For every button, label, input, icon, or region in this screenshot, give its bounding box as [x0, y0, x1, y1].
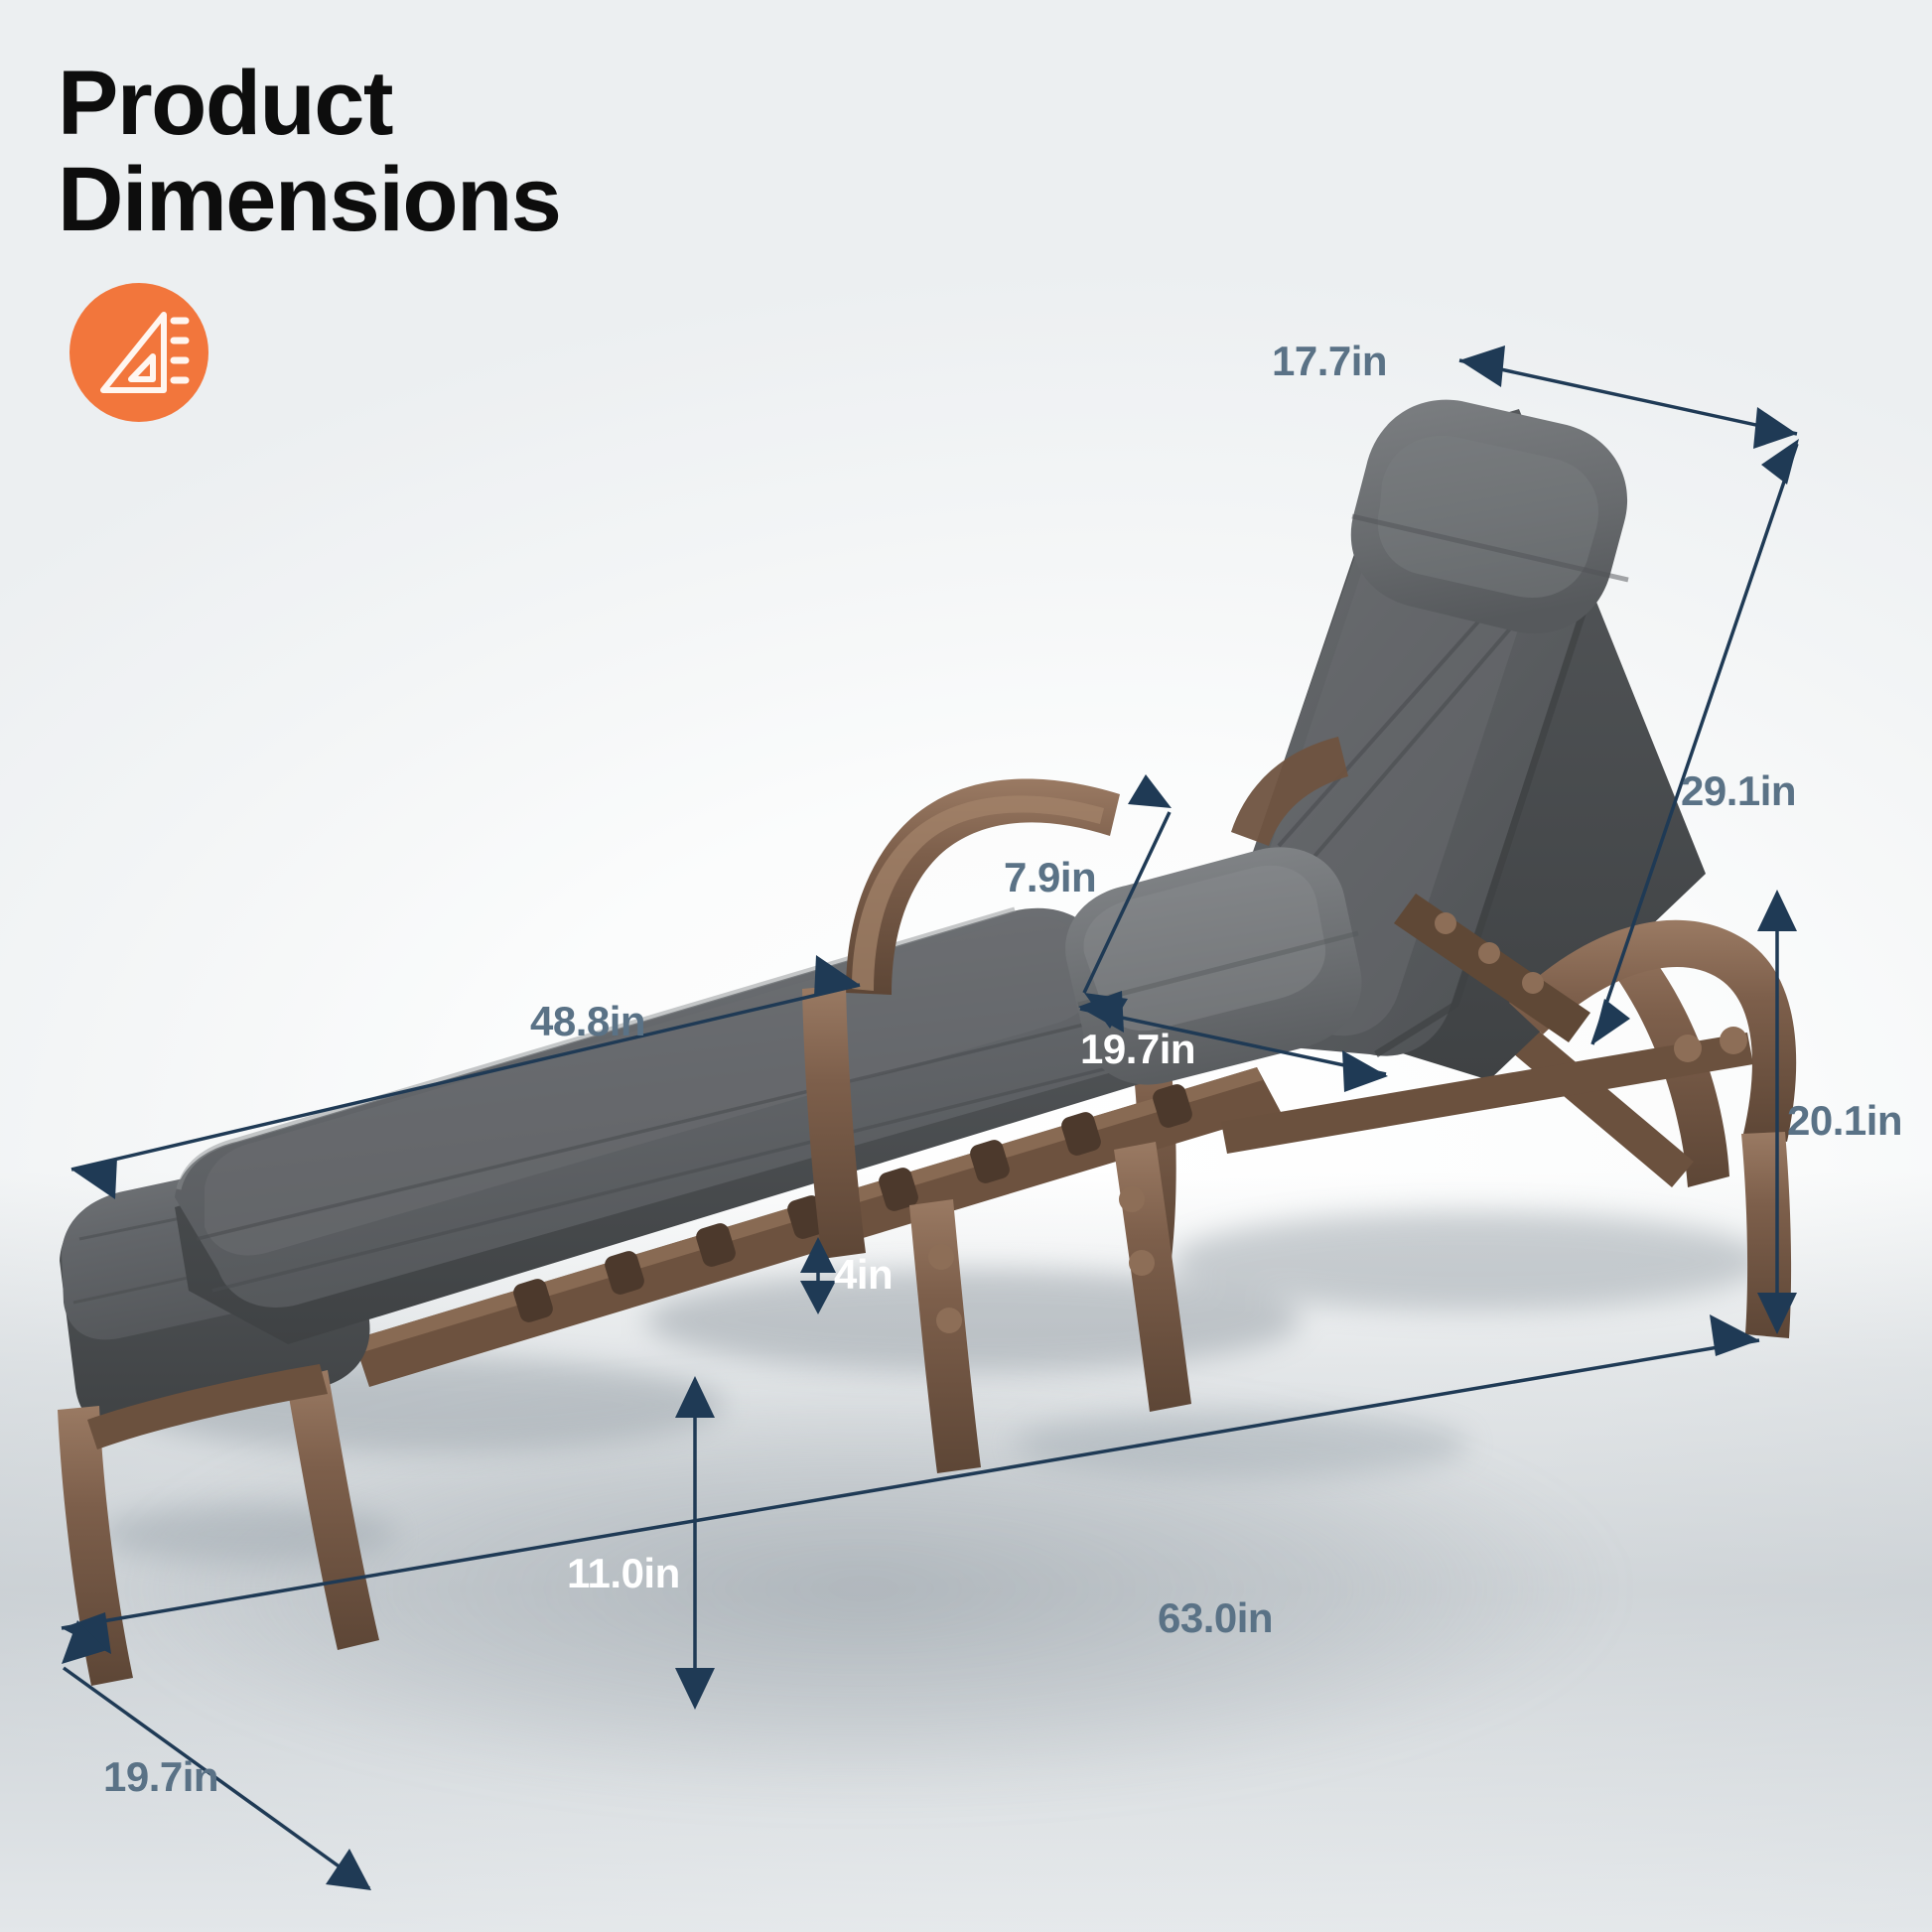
- triangle-ruler-icon: [69, 283, 208, 422]
- page-title: Product Dimensions: [58, 56, 951, 247]
- cushion-seat: [175, 908, 1191, 1344]
- dimension-label-seat-length: 48.8in: [530, 998, 645, 1045]
- frame-side-rail: [353, 1067, 1281, 1387]
- dimension-label-cushion-thickness: 4in: [834, 1251, 893, 1299]
- floor-shadow-pool: [119, 1380, 1608, 1797]
- dimension-label-overall-length: 63.0in: [1158, 1594, 1273, 1642]
- dimension-label-armrest-gap: 7.9in: [1004, 854, 1096, 901]
- dimension-lines: [62, 360, 1797, 1888]
- dimension-arrowheads: [62, 345, 1799, 1890]
- cushion-foot: [60, 1153, 370, 1430]
- product-dimensions-infographic: Product Dimensions: [0, 0, 1932, 1932]
- dimension-label-frame-height: 20.1in: [1787, 1097, 1902, 1145]
- page-title-line1: Product: [58, 53, 392, 154]
- frame-armrest-far: [1231, 737, 1348, 846]
- page-title-line2: Dimensions: [58, 152, 951, 248]
- dimensions-badge: [69, 283, 208, 422]
- frame-mid-legs: [909, 1142, 1191, 1473]
- dimension-label-seat-width: 19.7in: [1080, 1026, 1195, 1073]
- dimension-label-cushion-width: 17.7in: [1272, 338, 1387, 385]
- frame-far: [1126, 894, 1729, 1259]
- dimension-label-backrest-height: 29.1in: [1681, 767, 1796, 815]
- frame-foot-legs: [58, 1364, 379, 1686]
- dimension-label-seat-height: 11.0in: [567, 1550, 680, 1597]
- frame-rear-arch: [1221, 894, 1796, 1338]
- floor-shadow: [0, 1172, 1932, 1932]
- cushion-head-pillow: [1351, 400, 1628, 634]
- product-illustration: [0, 0, 1932, 1932]
- dimension-label-overall-depth: 19.7in: [103, 1753, 218, 1801]
- contact-shadow: [99, 1211, 1767, 1564]
- cushion-backrest: [1182, 409, 1706, 1080]
- frame-armrest: [802, 779, 1120, 1259]
